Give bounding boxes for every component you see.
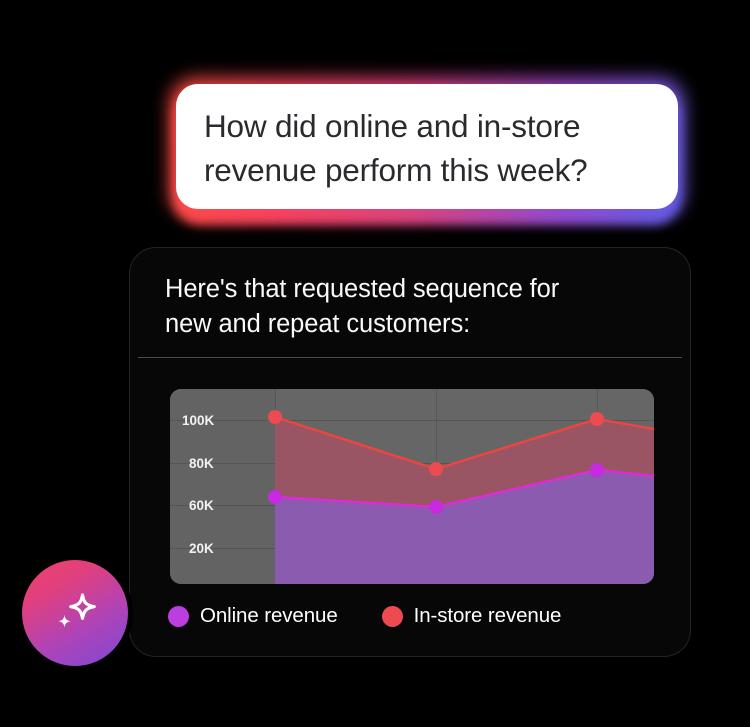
assistant-avatar[interactable] (22, 560, 128, 666)
question-text: How did online and in-store revenue perf… (204, 104, 650, 192)
header-divider (138, 357, 682, 358)
chart-svg: 100K 80K 60K 20K (170, 389, 654, 584)
y-tick-label-60k: 60K (189, 498, 214, 513)
in-store-revenue-swatch (382, 606, 403, 627)
y-tick-label-100k: 100K (182, 413, 215, 428)
assistant-response-card: Here's that requested sequence for new a… (130, 248, 690, 656)
sparkle-icon (45, 583, 105, 643)
revenue-area-chart[interactable]: 100K 80K 60K 20K (170, 389, 654, 584)
legend-label-online-revenue: Online revenue (200, 604, 338, 628)
chart-legend: Online revenue In-store revenue (168, 604, 561, 628)
legend-item-online-revenue[interactable]: Online revenue (168, 604, 338, 628)
question-bubble-card: How did online and in-store revenue perf… (176, 84, 678, 209)
response-header: Here's that requested sequence for new a… (165, 272, 665, 342)
response-header-text: Here's that requested sequence for new a… (165, 272, 665, 342)
y-tick-label-80k: 80K (189, 456, 214, 471)
online-revenue-swatch (168, 606, 189, 627)
question-bubble: How did online and in-store revenue perf… (170, 78, 684, 218)
legend-label-in-store-revenue: In-store revenue (414, 604, 562, 628)
y-tick-label-20k: 20K (189, 541, 214, 556)
legend-item-in-store-revenue[interactable]: In-store revenue (382, 604, 562, 628)
